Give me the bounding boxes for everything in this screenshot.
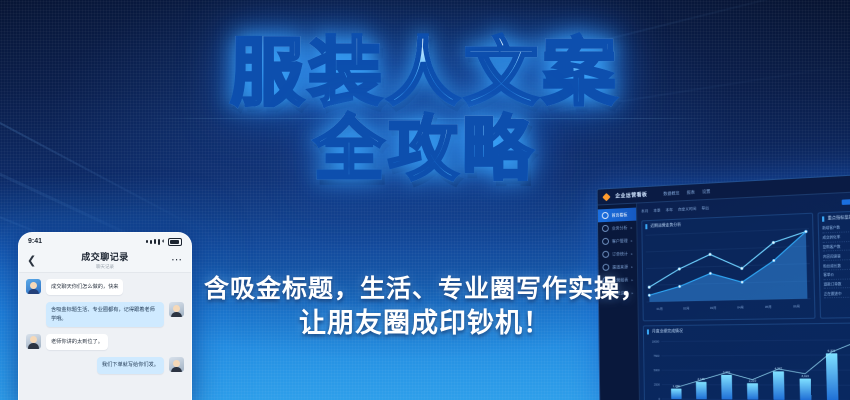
sidebar-item-label: 订单统计 [612,251,628,258]
chart-icon [602,225,609,232]
kpi-label: 新增客户数 [822,225,840,231]
kpi-label: 粉丝增长数 [823,262,841,268]
cellular-signal-icon [154,239,156,244]
svg-text:2500: 2500 [654,383,660,386]
panel-header: 重点指标监控 [822,214,850,221]
filter-custom-range[interactable]: 自定义时间 [678,207,696,213]
cellular-signal-icon [146,240,148,243]
battery-icon [168,238,182,246]
status-time: 9:41 [28,238,42,245]
chevron-right-icon: ▸ [631,251,633,255]
filter-year[interactable]: 本年 [666,208,673,213]
phone-nav-bar: ❮ 成交聊记录 聊天记录 ⋯ [19,248,191,273]
user-icon [602,238,609,245]
share-icon [602,264,609,271]
export-button[interactable]: 导出 [701,206,709,211]
panel-title: 重点指标监控 [828,215,850,221]
chevron-right-icon: ▸ [631,238,633,242]
panel-accent-bar [822,216,824,221]
svg-text:5000: 5000 [654,369,660,372]
subtitle-line-2: 让朋友圈成印钞机！ [0,306,850,342]
wifi-icon: ◐ [162,238,166,245]
kpi-label: 复购客户数 [823,243,841,249]
phone-status-bar: 9:41 ◐ [19,233,191,248]
avatar [169,357,184,372]
chevron-right-icon: ▸ [631,225,633,229]
chat-title: 成交聊记录 [19,250,191,263]
cellular-signal-icon [150,240,152,244]
subtitle-line-1: 含吸金标题，生活、专业圈写作实操， [0,272,850,306]
filter-month[interactable]: 本月 [641,209,648,214]
brand-logo-icon [602,192,610,200]
panel-accent-bar [645,224,647,229]
promo-banner: 9:41 ◐ ❮ 成交聊记录 聊天记录 ⋯ 成交聊天你们怎么做的，快来 [0,0,850,400]
title-block: 服装人文案 全攻略 [0,36,850,184]
filter-quarter[interactable]: 本季 [653,208,660,213]
segment-control[interactable] [842,198,850,205]
dashboard-brand: 企业运营看板 [615,191,647,200]
sidebar-item-label: 业务分析 [612,225,628,232]
kpi-label: 成交转化率 [822,234,840,240]
top-menu-item[interactable]: 数据概览 [663,190,679,197]
top-menu-item[interactable]: 设置 [702,188,710,195]
sidebar-item-label: 首页看板 [612,212,628,219]
sidebar-item-orders[interactable]: 订单统计 ▸ [598,247,637,261]
panel-title: 近期运营走势分析 [650,223,681,229]
sidebar-item-label: 客户管理 [612,238,628,245]
monthly-bar-chart: 1,2802,1453,3762,2104,2873,1136,3217,928… [647,334,850,400]
kpi-label: 内容阅读量 [823,253,841,259]
message-bubble: 我们下单就写给你们发。 [97,357,164,373]
segment-active[interactable] [842,199,850,205]
chevron-right-icon: ▸ [631,264,633,268]
cellular-signal-icon [158,239,160,245]
dashboard-top-menu[interactable]: 数据概览 报表 设置 [663,188,710,197]
grid-icon [602,212,609,219]
subtitle-block: 含吸金标题，生活、专业圈写作实操， 让朋友圈成印钞机！ [0,272,850,342]
status-icons: ◐ [146,238,182,246]
cart-icon [602,251,609,258]
svg-text:3,113: 3,113 [801,374,809,378]
sidebar-item-label: 渠道来源 [612,264,628,271]
chat-message: 我们下单就写给你们发。 [26,357,184,373]
page-title-line-1: 服装人文案 [0,36,850,110]
top-menu-item[interactable]: 报表 [687,189,695,196]
nav-title-group: 成交聊记录 聊天记录 [19,250,191,270]
svg-text:7500: 7500 [654,355,660,358]
chat-subtitle: 聊天记录 [19,264,191,270]
page-title-line-2: 全攻略 [0,114,850,184]
